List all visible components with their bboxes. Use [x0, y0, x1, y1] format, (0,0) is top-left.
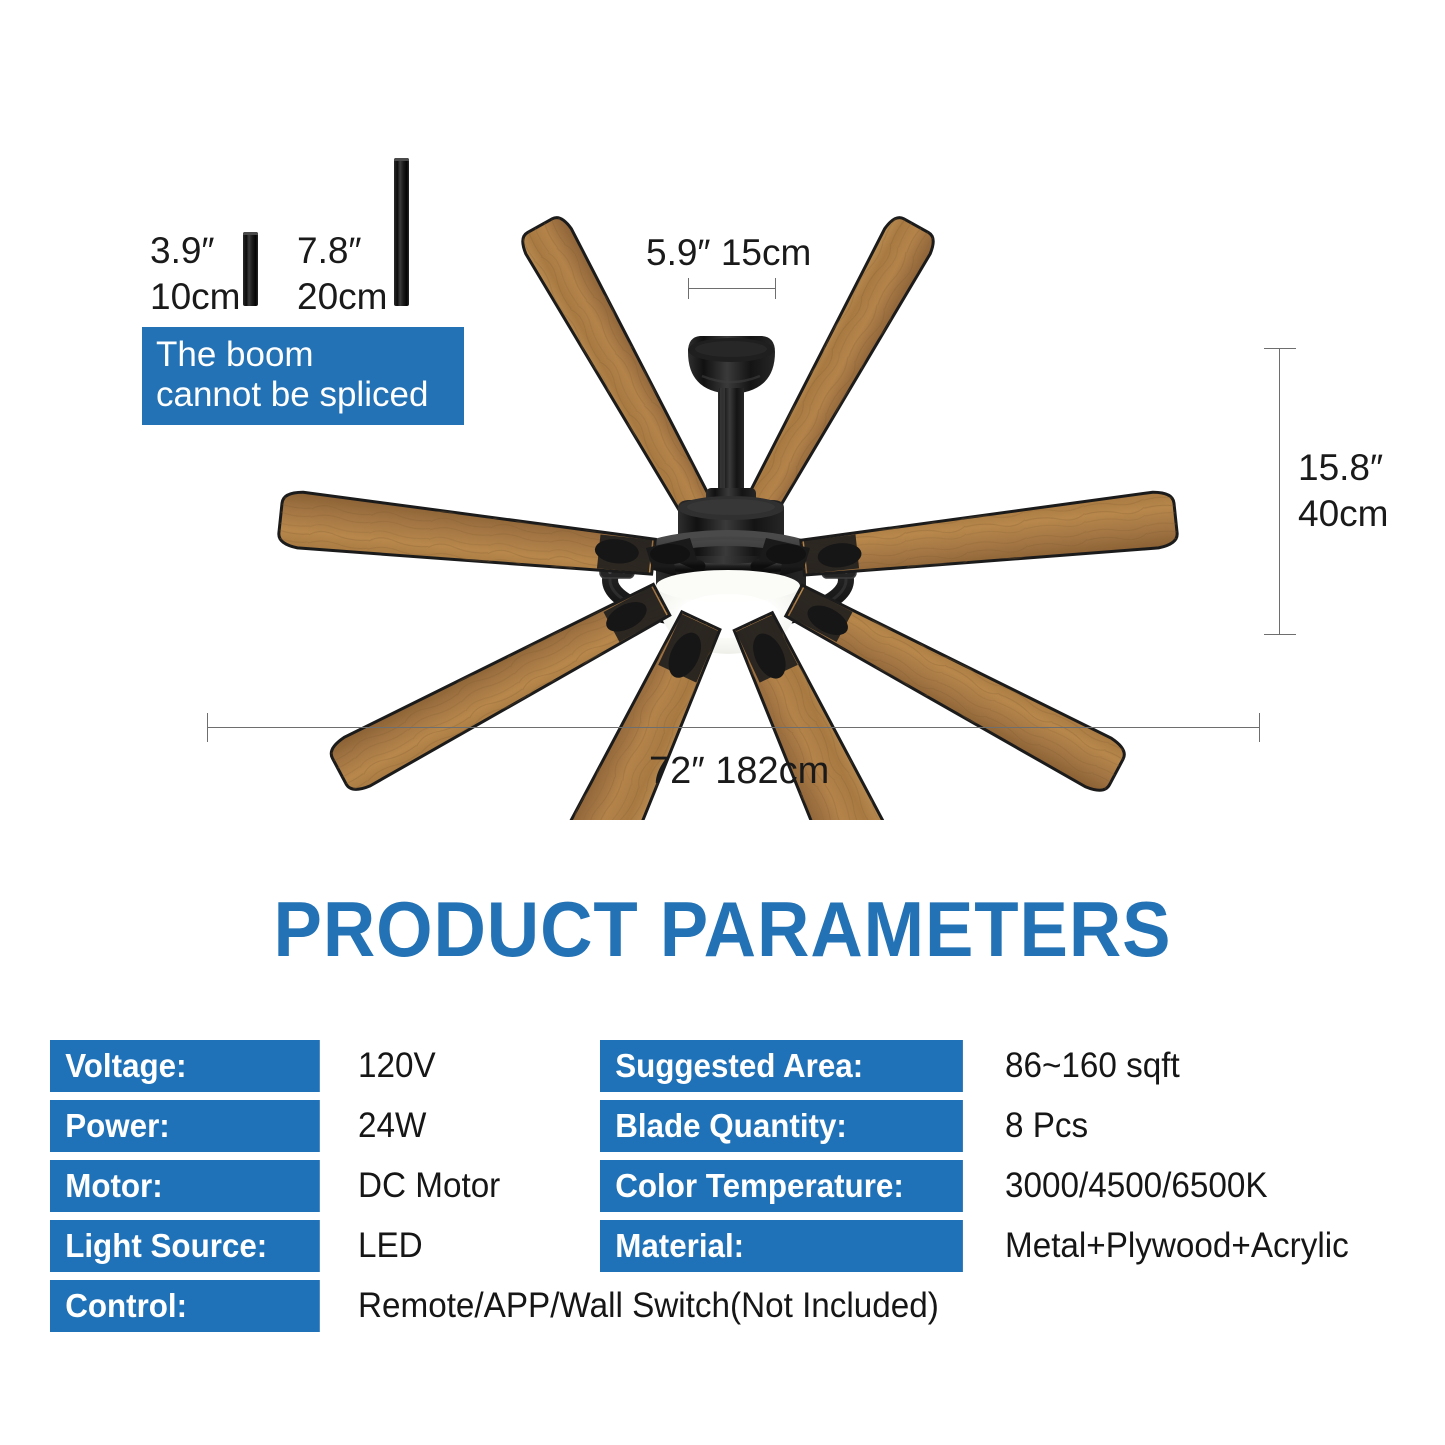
spec-value-suggested-area: 86~160 sqft — [1005, 1040, 1180, 1092]
width-dimension-tick-left — [207, 713, 208, 742]
spec-label-control: Control: — [50, 1280, 320, 1332]
spec-value-control: Remote/APP/Wall Switch(Not Included) — [358, 1280, 939, 1332]
spec-value-light-source: LED — [358, 1220, 423, 1272]
ceiling-canopy — [688, 336, 775, 394]
page-title: PRODUCT PARAMETERS — [51, 884, 1395, 975]
spec-value-color-temperature: 3000/4500/6500K — [1005, 1160, 1268, 1212]
spec-label-material: Material: — [600, 1220, 963, 1272]
spec-value-blade-quantity: 8 Pcs — [1005, 1100, 1088, 1152]
spec-label-motor: Motor: — [50, 1160, 320, 1212]
spec-value-power: 24W — [358, 1100, 426, 1152]
height-cm-label: 40cm — [1298, 491, 1388, 537]
spec-label-blade-quantity: Blade Quantity: — [600, 1100, 963, 1152]
width-dimension-tick-right — [1259, 713, 1260, 742]
spec-value-motor: DC Motor — [358, 1160, 500, 1212]
height-dimension-line — [1279, 348, 1280, 634]
ceiling-fan-illustration — [0, 0, 1445, 820]
spec-label-suggested-area: Suggested Area: — [600, 1040, 963, 1092]
height-inch-label: 15.8″ — [1298, 445, 1383, 491]
height-dimension-tick-top — [1264, 348, 1296, 349]
spec-label-color-temperature: Color Temperature: — [600, 1160, 963, 1212]
spec-label-light-source: Light Source: — [50, 1220, 320, 1272]
spec-label-power: Power: — [50, 1100, 320, 1152]
ceiling-fan-svg — [0, 0, 1445, 820]
spec-value-voltage: 120V — [358, 1040, 436, 1092]
width-dimension-line — [207, 727, 1260, 728]
width-label: 72″ 182cm — [649, 748, 829, 794]
spec-value-material: Metal+Plywood+Acrylic — [1005, 1220, 1349, 1272]
spec-label-voltage: Voltage: — [50, 1040, 320, 1092]
height-dimension-tick-bottom — [1264, 634, 1296, 635]
product-spec-page: 3.9″ 10cm 7.8″ 20cm The boom cannot be s… — [0, 0, 1445, 1445]
